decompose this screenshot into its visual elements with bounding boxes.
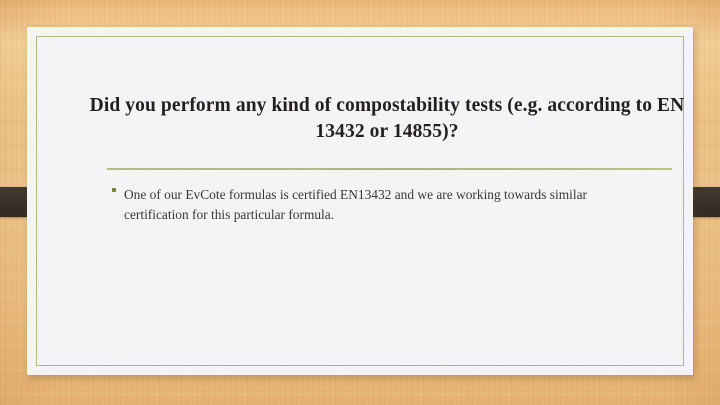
- title-divider: [107, 168, 672, 170]
- slide-title: Did you perform any kind of compostabili…: [82, 93, 692, 146]
- bullet-point-icon: [112, 188, 116, 192]
- slide-content-card: Did you perform any kind of compostabili…: [27, 27, 693, 375]
- bullet-list-item: One of our EvCote formulas is certified …: [111, 185, 651, 224]
- presentation-slide: Did you perform any kind of compostabili…: [0, 0, 720, 405]
- bullet-text: One of our EvCote formulas is certified …: [124, 185, 629, 224]
